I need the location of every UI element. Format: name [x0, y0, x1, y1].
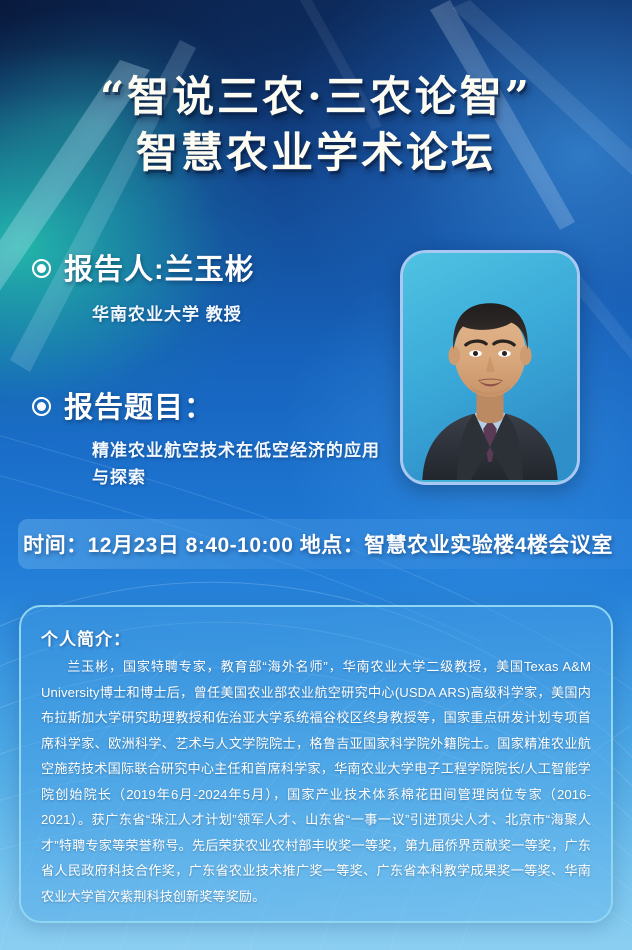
speaker-label: 报告人:兰玉彬: [64, 246, 255, 288]
bio-panel: 个人简介： 兰玉彬，国家特聘专家，教育部“海外名师”，华南农业大学二级教授，美国…: [19, 605, 613, 923]
speaker-photo-frame: [400, 250, 580, 485]
speaker-portrait-image: [403, 253, 577, 480]
bio-title: 个人简介：: [41, 625, 591, 650]
topic-label: 报告题目：: [64, 384, 214, 426]
topic-heading-row: 报告题目：: [32, 384, 392, 426]
title-line-2: 智慧农业学术论坛: [0, 128, 632, 178]
speaker-affiliation: 华南农业大学 教授: [92, 302, 392, 328]
schedule-bar: 时间：12月23日 8:40-10:00 地点：智慧农业实验楼4楼会议室: [18, 519, 632, 569]
speaker-info-block: 报告人:兰玉彬 华南农业大学 教授 报告题目： 精准农业航空技术在低空经济的应用…: [32, 246, 392, 491]
topic-content: 精准农业航空技术在低空经济的应用与探索: [92, 438, 392, 491]
speaker-block: 报告人:兰玉彬 华南农业大学 教授: [32, 246, 392, 328]
topic-block: 报告题目： 精准农业航空技术在低空经济的应用与探索: [32, 384, 392, 491]
ring-dot-icon: [32, 397, 51, 416]
ring-dot-icon: [32, 259, 51, 278]
poster-root: “智说三农·三农论智” 智慧农业学术论坛 报告人:兰玉彬 华南农业大学 教授 报…: [0, 0, 632, 950]
schedule-text: 时间：12月23日 8:40-10:00 地点：智慧农业实验楼4楼会议室: [23, 529, 613, 559]
poster-title: “智说三农·三农论智” 智慧农业学术论坛: [0, 72, 632, 177]
bio-body: 兰玉彬，国家特聘专家，教育部“海外名师”，华南农业大学二级教授，美国Texas …: [41, 654, 591, 909]
speaker-heading-row: 报告人:兰玉彬: [32, 246, 392, 288]
title-line-1: “智说三农·三农论智”: [0, 72, 632, 122]
